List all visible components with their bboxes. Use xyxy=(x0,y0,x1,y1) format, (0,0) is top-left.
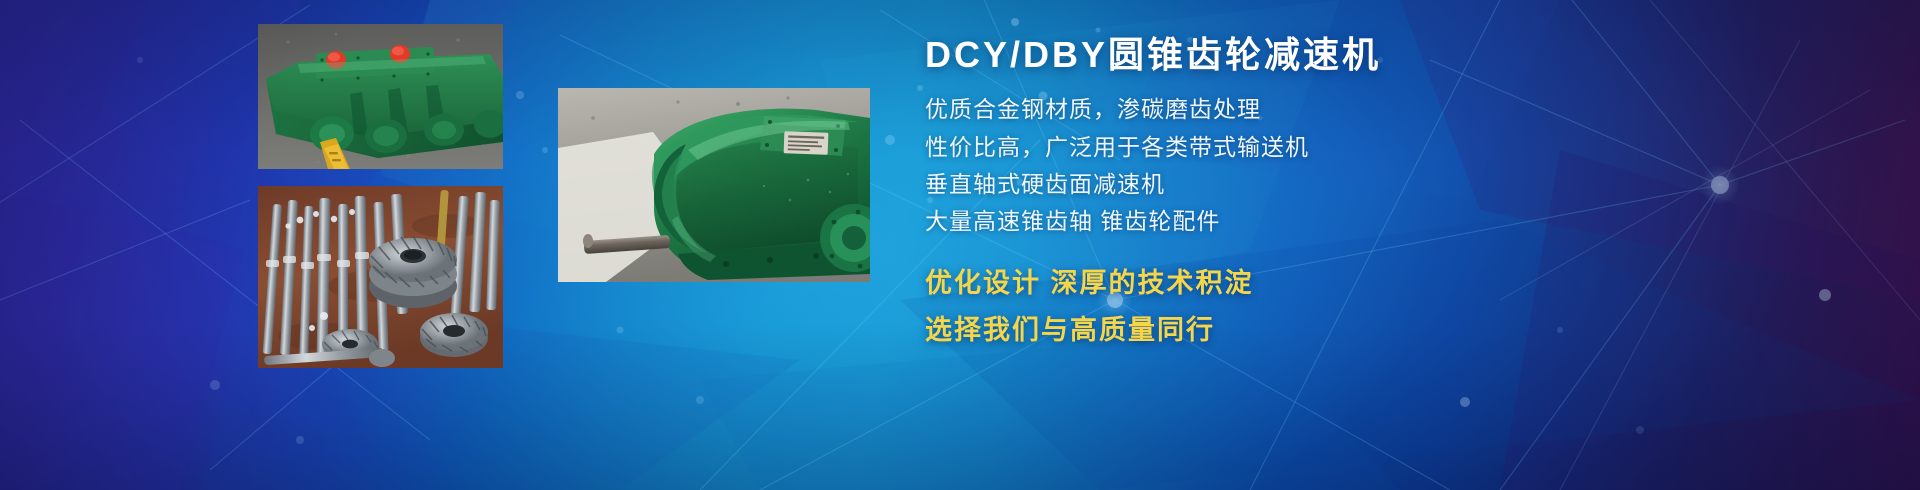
background-vignette xyxy=(0,0,1920,490)
product-banner: DCY/DBY圆锥齿轮减速机 优质合金钢材质，渗碳磨齿处理 性价比高，广泛用于各… xyxy=(0,0,1920,490)
